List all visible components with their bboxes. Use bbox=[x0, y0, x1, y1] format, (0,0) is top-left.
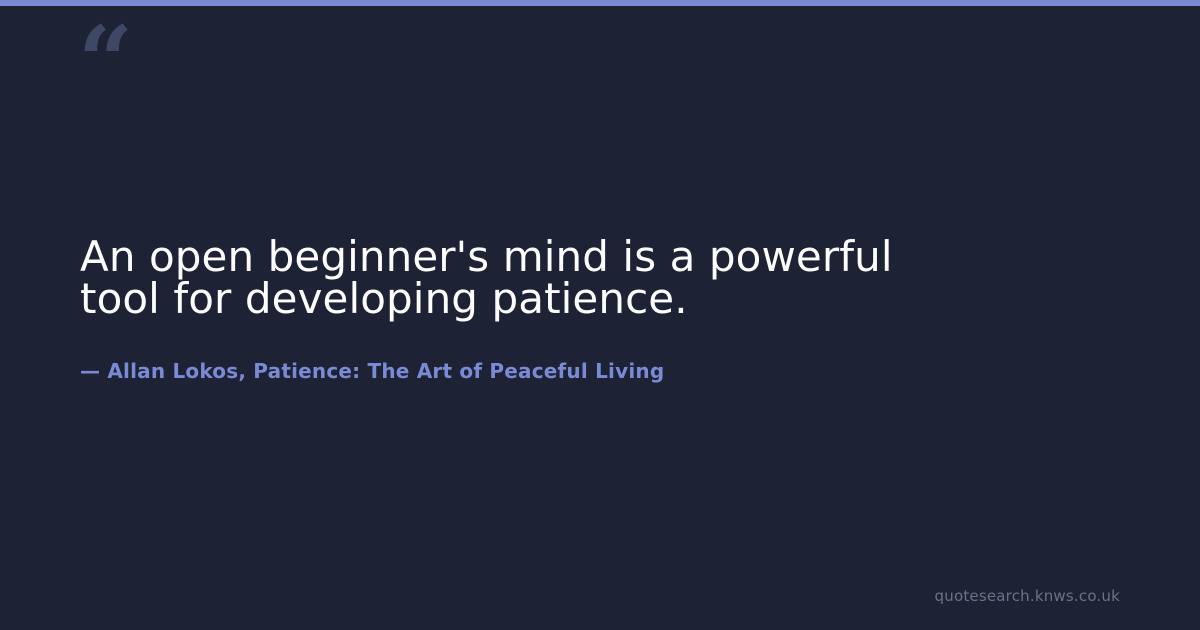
quote-card: “ An open beginner's mind is a powerful … bbox=[0, 0, 1200, 630]
open-quote-icon: “ bbox=[78, 14, 131, 110]
quote-attribution: — Allan Lokos, Patience: The Art of Peac… bbox=[80, 320, 1080, 384]
quote-text: An open beginner's mind is a powerful to… bbox=[80, 236, 960, 320]
top-accent-bar bbox=[0, 0, 1200, 6]
quote-content: An open beginner's mind is a powerful to… bbox=[80, 236, 1080, 384]
site-watermark: quotesearch.knws.co.uk bbox=[935, 587, 1120, 605]
